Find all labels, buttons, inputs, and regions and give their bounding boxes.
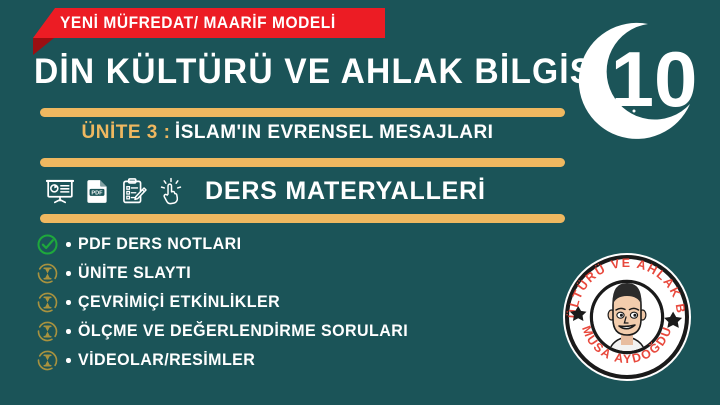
list-item[interactable]: ÖLÇME VE DEĞERLENDİRME SORULARI	[36, 317, 418, 346]
curriculum-ribbon: YENİ MÜFREDAT/ MAARİF MODELİ	[0, 8, 400, 38]
presentation-board-icon	[46, 177, 74, 205]
divider-bar-middle	[40, 158, 565, 167]
list-item[interactable]: ÜNİTE SLAYTI	[36, 259, 418, 288]
bullet-dot	[66, 329, 71, 334]
teacher-logo-badge[interactable]: DİN KÜLTÜRÜ VE AHLAK BİLGİSİ MUSA AYDOĞD…	[557, 247, 697, 387]
grade-number: 10	[611, 35, 698, 123]
list-item[interactable]: VİDEOLAR/RESİMLER	[36, 346, 418, 375]
list-item-label: ÇEVRİMİÇİ ETKİNLİKLER	[78, 293, 280, 312]
hourglass-circle-icon	[36, 320, 59, 343]
ribbon-body: YENİ MÜFREDAT/ MAARİF MODELİ	[33, 8, 385, 38]
svg-text:PDF: PDF	[91, 191, 103, 197]
list-item-label: PDF DERS NOTLARI	[78, 235, 241, 254]
materials-checklist: PDF DERS NOTLARI ÜNİTE SLAYTI ÇEVRİMİÇİ …	[36, 230, 418, 375]
list-item-label: VİDEOLAR/RESİMLER	[78, 351, 255, 370]
materials-label: DERS MATERYALLERİ	[205, 177, 486, 206]
grade-badge: 10	[578, 18, 706, 146]
ribbon-fold-shape	[33, 38, 54, 55]
bullet-dot	[66, 300, 71, 305]
divider-bar-bottom	[40, 214, 565, 223]
list-item-label: ÖLÇME VE DEĞERLENDİRME SORULARI	[78, 322, 408, 341]
bullet-dot	[66, 271, 71, 276]
list-item-label: ÜNİTE SLAYTI	[78, 264, 191, 283]
check-circle-icon	[36, 233, 59, 256]
bullet-dot	[66, 242, 71, 247]
list-item[interactable]: PDF DERS NOTLARI	[36, 230, 418, 259]
materials-heading-row: PDF DERS MATERYALLERİ	[46, 170, 486, 212]
list-item[interactable]: ÇEVRİMİÇİ ETKİNLİKLER	[36, 288, 418, 317]
unit-name-label: İSLAM'IN EVRENSEL MESAJLARI	[175, 122, 494, 143]
hourglass-circle-icon	[36, 262, 59, 285]
course-poster: YENİ MÜFREDAT/ MAARİF MODELİ DİN KÜLTÜRÜ…	[0, 0, 720, 405]
page-title: DİN KÜLTÜRÜ VE AHLAK BİLGİSİ	[34, 52, 604, 92]
click-hand-icon	[157, 177, 185, 205]
pdf-file-icon: PDF	[83, 177, 111, 205]
ribbon-label: YENİ MÜFREDAT/ MAARİF MODELİ	[60, 14, 336, 33]
clipboard-pencil-icon	[120, 177, 148, 205]
bullet-dot	[66, 358, 71, 363]
hourglass-circle-icon	[36, 291, 59, 314]
divider-bar-top	[40, 108, 565, 117]
unit-number-label: ÜNİTE 3 :	[82, 122, 171, 143]
hourglass-circle-icon	[36, 349, 59, 372]
